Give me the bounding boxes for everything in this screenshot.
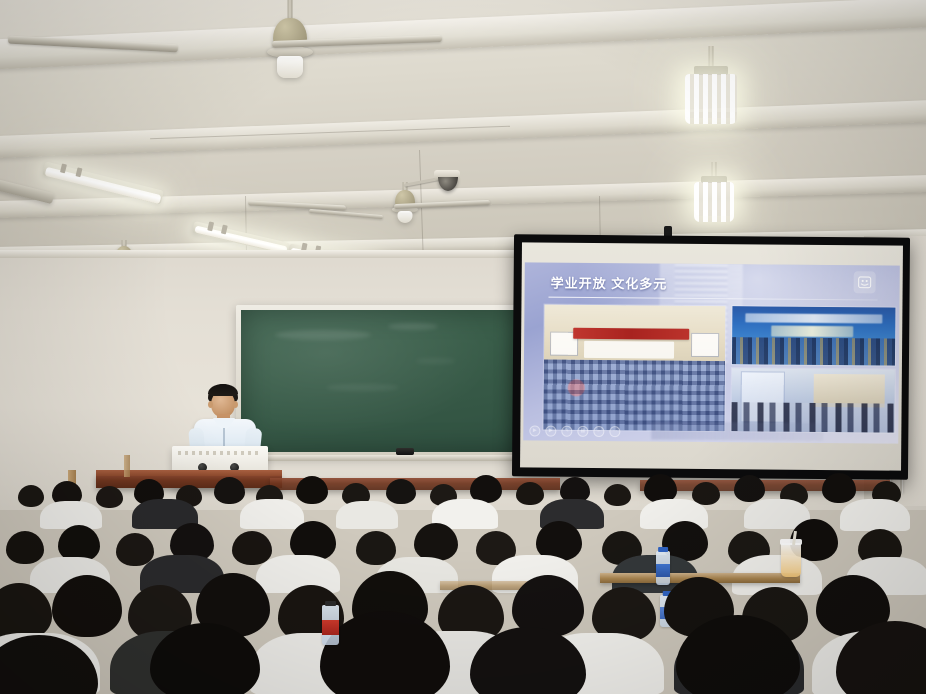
audience-head	[232, 531, 272, 565]
audience-head	[296, 476, 328, 504]
audience-head	[214, 477, 245, 504]
drink-cup	[781, 543, 801, 577]
audience-head	[116, 533, 154, 566]
audience-head	[18, 485, 44, 507]
audience-head	[414, 523, 458, 561]
chalkboard-eraser	[396, 448, 414, 455]
water-bottle	[322, 605, 339, 645]
presenter-hair	[208, 384, 238, 396]
grid-icon[interactable]: ▦	[577, 425, 588, 436]
security-camera-icon	[404, 170, 462, 204]
play-icon[interactable]: ▶	[529, 425, 540, 436]
audience-torso	[840, 499, 910, 531]
audience-head	[734, 475, 765, 502]
water-bottle	[656, 551, 670, 585]
slide-photo-conference-hall	[543, 305, 725, 432]
presenter-ear	[208, 401, 213, 408]
audience-head	[386, 479, 416, 504]
chalkboard	[236, 305, 528, 457]
slide-photo-award-ceremony	[732, 306, 895, 365]
ceiling-fan	[160, 0, 420, 70]
presenter-ear	[233, 401, 238, 408]
lecture-hall-photo: 学业开放 文化多元	[0, 0, 926, 694]
more-icon[interactable]: ⋯	[609, 426, 620, 437]
next-icon[interactable]: ▶	[545, 425, 556, 436]
audience-head	[96, 486, 123, 508]
pendant-light	[676, 46, 746, 156]
audience	[0, 455, 926, 694]
audience-head	[6, 531, 44, 564]
zoom-icon[interactable]: ⌕	[593, 425, 604, 436]
slide-player-controls[interactable]: ▶ ▶ ✎ ▦ ⌕ ⋯	[529, 424, 892, 439]
audience-torso	[336, 501, 398, 529]
audience-torso	[240, 499, 304, 529]
university-emblem-icon	[854, 271, 876, 293]
pen-icon[interactable]: ✎	[561, 425, 572, 436]
chalkboard-surface	[241, 310, 523, 452]
ceiling-beam	[0, 99, 926, 160]
ceiling-beam	[0, 0, 926, 71]
audience-torso	[40, 501, 102, 529]
audience-head	[604, 484, 631, 506]
screen-surface: 学业开放 文化多元	[520, 242, 903, 470]
presentation-slide: 学业开放 文化多元	[523, 262, 900, 443]
audience-head	[822, 473, 856, 503]
slide-title: 学业开放 文化多元	[551, 273, 668, 293]
audience-head	[516, 482, 544, 505]
audience-head	[52, 575, 122, 637]
projection-screen: 学业开放 文化多元	[512, 234, 910, 479]
